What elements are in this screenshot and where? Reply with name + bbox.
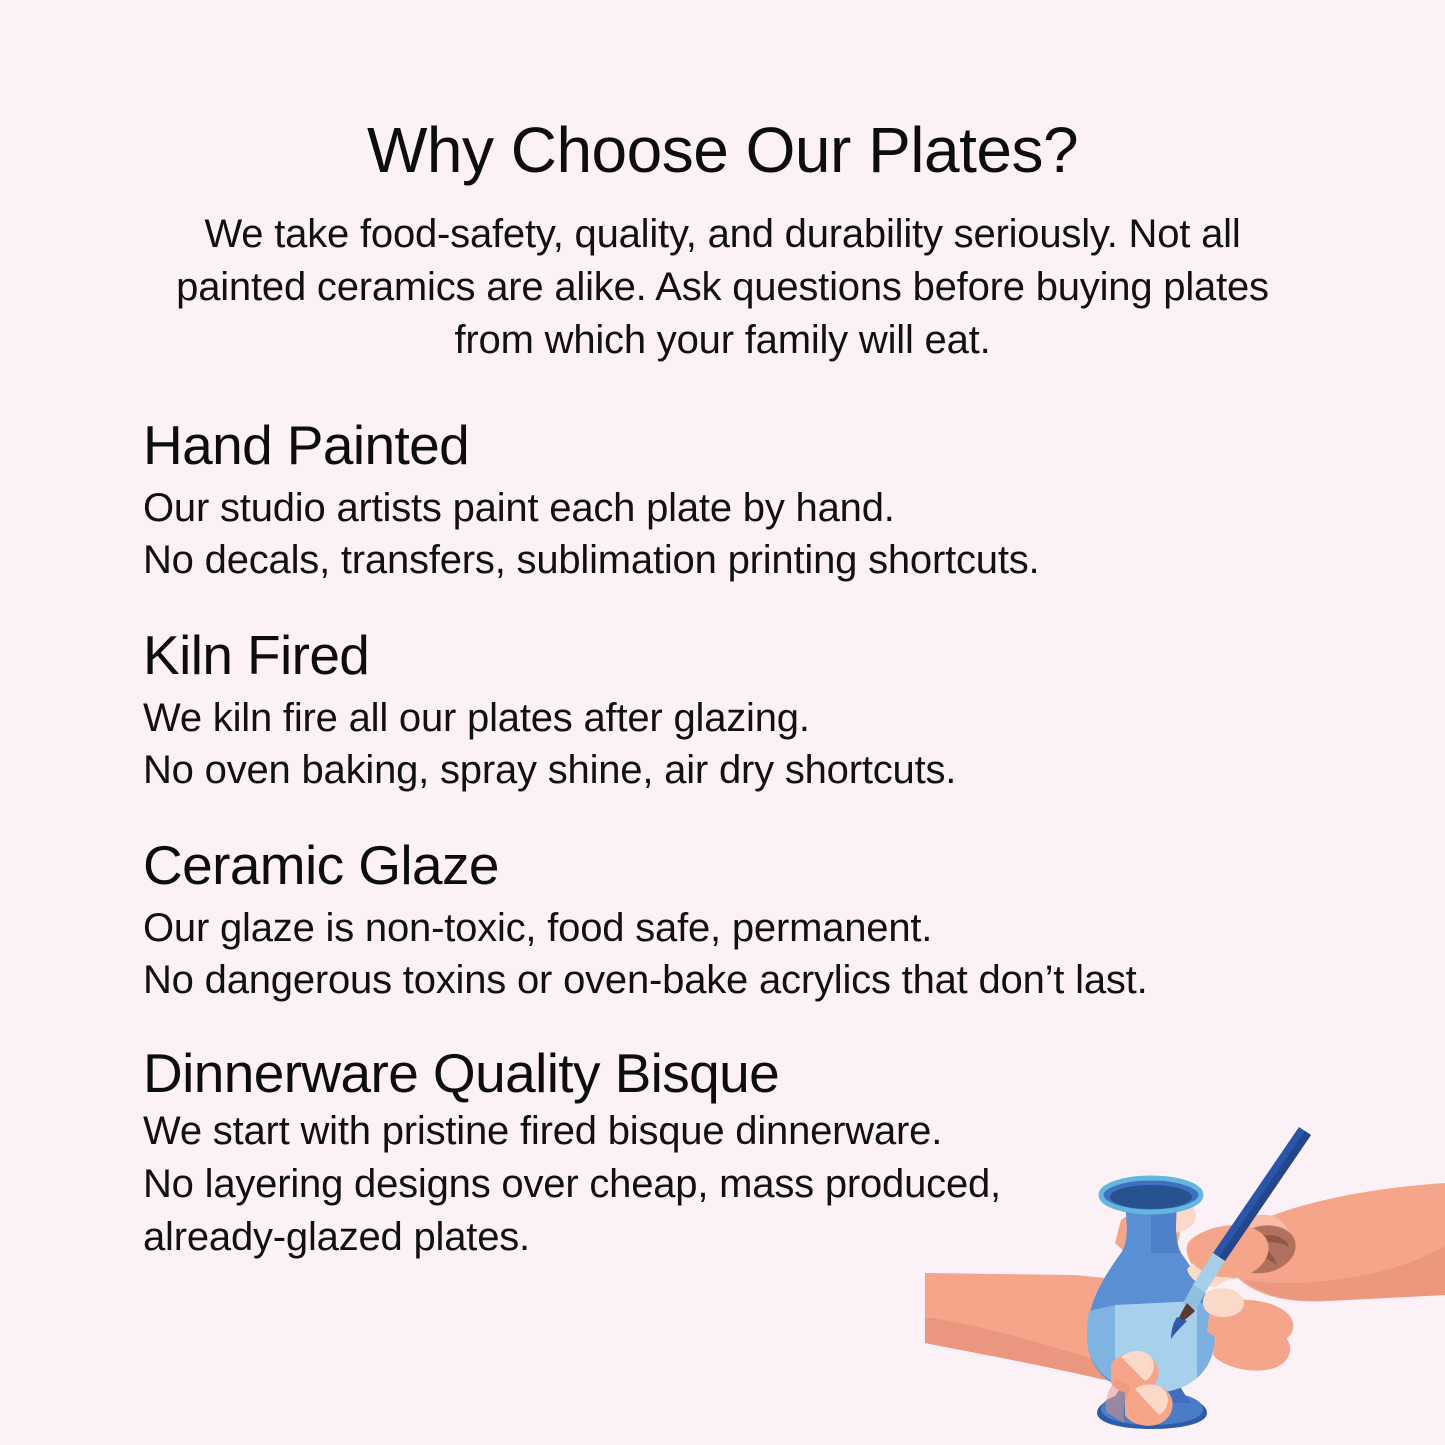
feature-line-dinnerware-3: already-glazed plates. <box>143 1211 1445 1264</box>
feature-line-ceramic-glaze-1: Our glaze is non-toxic, food safe, perma… <box>143 902 1445 954</box>
left-hand-front-fingers <box>1106 1351 1173 1426</box>
feature-dinnerware-quality-bisque: Dinnerware Quality Bisque We start with … <box>143 1044 1445 1264</box>
feature-ceramic-glaze: Ceramic Glaze Our glaze is non-toxic, fo… <box>143 836 1445 1006</box>
page-title: Why Choose Our Plates? <box>0 118 1445 182</box>
feature-line-ceramic-glaze-2: No dangerous toxins or oven-bake acrylic… <box>143 954 1445 1006</box>
feature-line-dinnerware-1: We start with pristine fired bisque dinn… <box>143 1105 1445 1158</box>
feature-title-kiln-fired: Kiln Fired <box>143 626 1445 684</box>
header: Why Choose Our Plates? We take food-safe… <box>0 0 1445 368</box>
left-arm-group <box>925 1273 1175 1389</box>
poster-canvas: Why Choose Our Plates? We take food-safe… <box>0 0 1445 1445</box>
feature-line-dinnerware-2: No layering designs over cheap, mass pro… <box>143 1158 1445 1211</box>
feature-line-hand-painted-1: Our studio artists paint each plate by h… <box>143 482 1445 534</box>
feature-kiln-fired: Kiln Fired We kiln fire all our plates a… <box>143 626 1445 796</box>
feature-hand-painted: Hand Painted Our studio artists paint ea… <box>143 416 1445 586</box>
feature-line-kiln-fired-2: No oven baking, spray shine, air dry sho… <box>143 744 1445 796</box>
feature-list: Hand Painted Our studio artists paint ea… <box>0 416 1445 1265</box>
feature-title-ceramic-glaze: Ceramic Glaze <box>143 836 1445 894</box>
feature-title-hand-painted: Hand Painted <box>143 416 1445 474</box>
feature-title-dinnerware-quality-bisque: Dinnerware Quality Bisque <box>143 1044 1445 1102</box>
feature-line-kiln-fired-1: We kiln fire all our plates after glazin… <box>143 692 1445 744</box>
feature-line-hand-painted-2: No decals, transfers, sublimation printi… <box>143 534 1445 586</box>
page-subtitle: We take food-safety, quality, and durabi… <box>159 208 1287 368</box>
